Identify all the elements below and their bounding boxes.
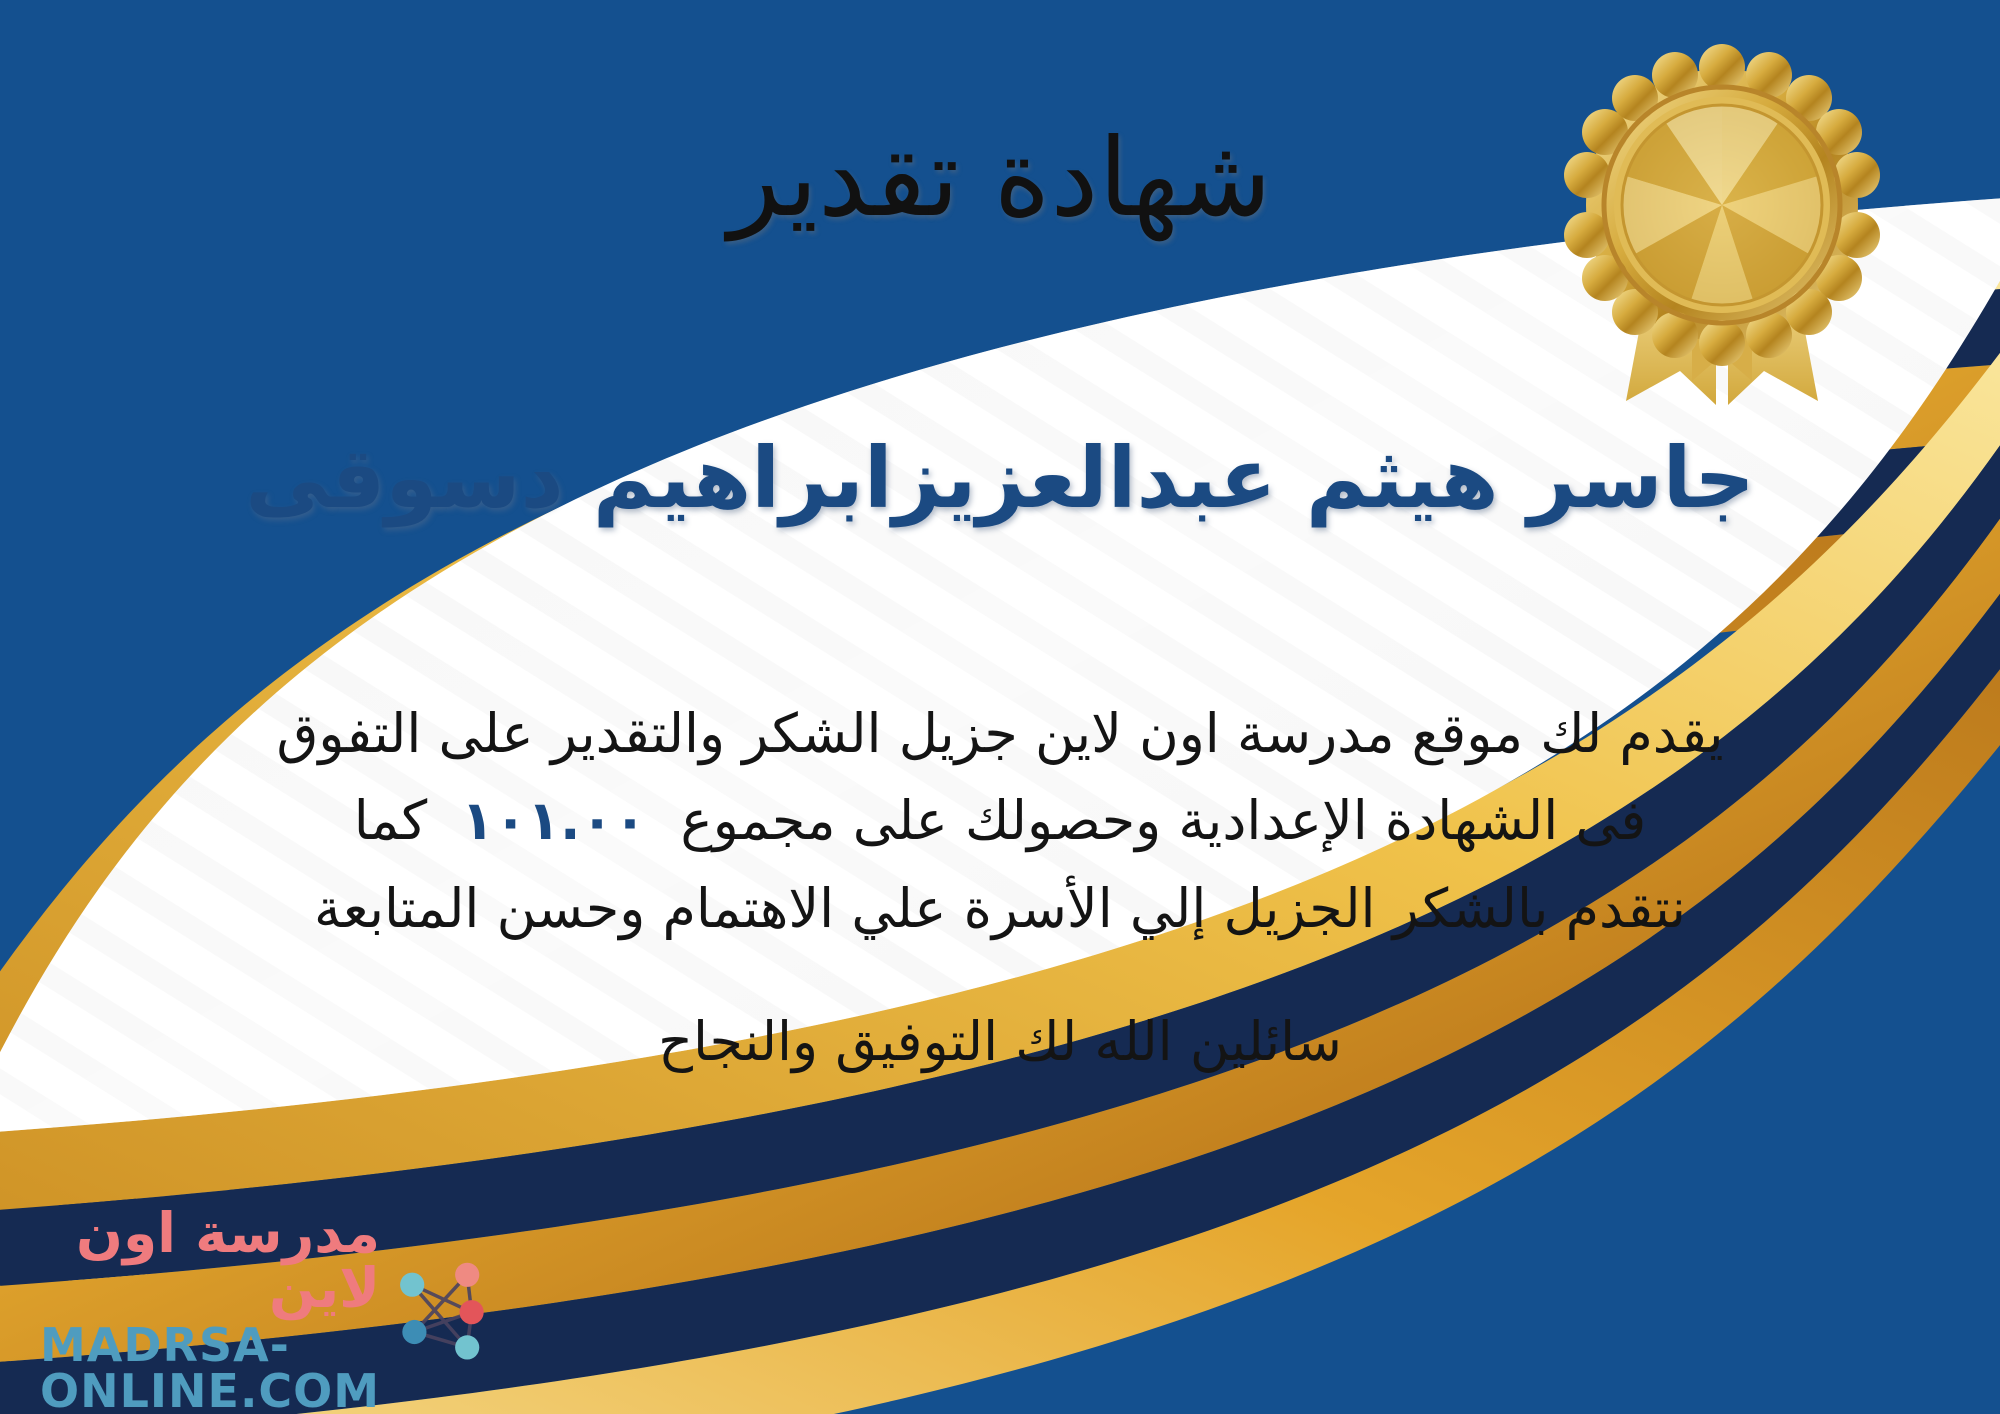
certificate-canvas: شهادة تقدير جاسر هيثم عبدالعزيزابراهيم د… bbox=[0, 0, 2000, 1414]
logo-text-block: مدرسة اون لاين MADRSA-ONLINE.COM bbox=[40, 1206, 380, 1414]
body-line-1: يقدم لك موقع مدرسة اون لاين جزيل الشكر و… bbox=[60, 690, 1940, 777]
body-line-3: نتقدم بالشكر الجزيل إلي الأسرة علي الاهت… bbox=[60, 865, 1940, 952]
body-line-2-suffix: كما bbox=[354, 789, 427, 852]
recipient-name: جاسر هيثم عبدالعزيزابراهيم دسوقى bbox=[130, 430, 1870, 527]
body-line-2: فى الشهادة الإعدادية وحصولك على مجموع١٠١… bbox=[60, 777, 1940, 864]
body-line-2-text: فى الشهادة الإعدادية وحصولك على مجموع bbox=[680, 789, 1646, 852]
page-title: شهادة تقدير bbox=[130, 120, 1870, 239]
score-value: ١٠١.٠٠ bbox=[427, 789, 680, 852]
network-nodes-icon bbox=[388, 1255, 498, 1365]
logo-domain: MADRSA-ONLINE.COM bbox=[40, 1322, 380, 1414]
logo-arabic-name: مدرسة اون لاين bbox=[40, 1206, 380, 1316]
certificate-body: يقدم لك موقع مدرسة اون لاين جزيل الشكر و… bbox=[60, 690, 1940, 952]
closing-line: سائلين الله لك التوفيق والنجاح bbox=[130, 1010, 1870, 1073]
site-logo[interactable]: مدرسة اون لاين MADRSA-ONLINE.COM bbox=[40, 1240, 480, 1380]
